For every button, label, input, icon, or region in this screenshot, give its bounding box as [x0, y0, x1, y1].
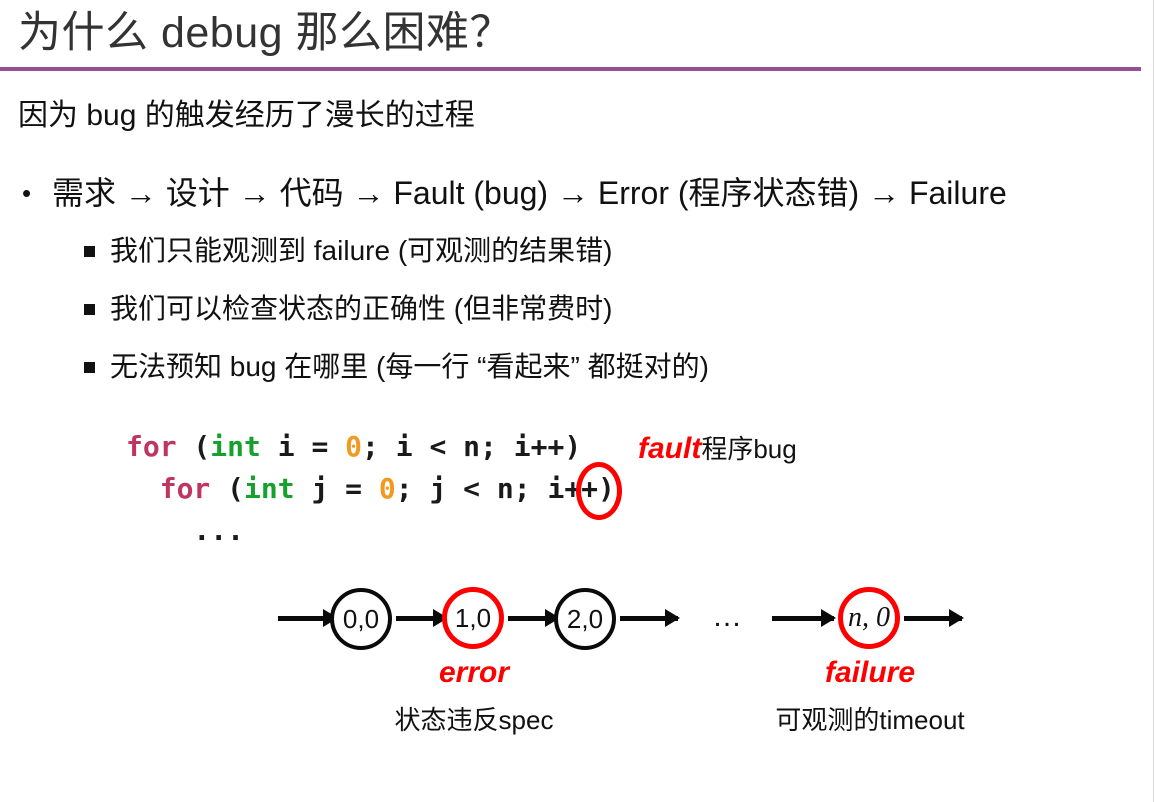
slide-canvas: 为什么 debug 那么困难？ 因为 bug 的触发经历了漫长的过程 •需求 →…: [0, 0, 1154, 802]
bullet-level2-label: 我们可以检查状态的正确性 (但非常费时): [110, 293, 612, 324]
diagram-arrow-n-out: [904, 616, 962, 621]
code-token-plain: (: [210, 472, 244, 505]
code-token-plain: i =: [261, 430, 345, 463]
code-token-plain: ...: [126, 514, 244, 547]
code-token-number: 0: [345, 430, 362, 463]
bullet-level2-label: 无法预知 bug 在哪里 (每一行 “看起来” 都挺对的): [110, 351, 709, 382]
bullet-level2-item: 无法预知 bug 在哪里 (每一行 “看起来” 都挺对的): [84, 348, 709, 386]
code-token-number: 0: [379, 472, 396, 505]
code-highlight-ellipse-icon: [576, 462, 622, 520]
code-token-type: int: [210, 430, 261, 463]
bullet-level2-item: 我们只能观测到 failure (可观测的结果错): [84, 232, 612, 270]
diagram-node-2: 2,0: [554, 588, 616, 650]
failure-label: failure: [794, 656, 946, 690]
diagram-ellipsis: …: [712, 600, 744, 634]
code-token-plain: (: [177, 430, 211, 463]
code-token-keyword: for: [126, 430, 177, 463]
diagram-arrow-2-out: [620, 616, 678, 621]
bullet-square-icon: [84, 290, 110, 328]
page-title: 为什么 debug 那么困难？: [18, 4, 513, 62]
fault-annotation: fault程序bug: [638, 430, 797, 468]
subtitle-text: 因为 bug 的触发经历了漫长的过程: [18, 96, 475, 136]
code-block: for (int i = 0; i < n; i++) for (int j =…: [126, 426, 615, 552]
code-token-plain: j =: [295, 472, 379, 505]
state-diagram: 0,0 1,0 2,0 … n, 0 error 状态违反spec failur…: [0, 560, 1154, 690]
bullet-level2-item: 我们可以检查状态的正确性 (但非常费时): [84, 290, 612, 328]
diagram-arrow-in-n: [772, 616, 834, 621]
diagram-arrow-1-2: [508, 616, 558, 621]
error-label: error: [398, 656, 550, 690]
diagram-node-1: 1,0: [442, 587, 504, 649]
failure-caption: 可观测的timeout: [762, 700, 978, 737]
bullet-level2-label: 我们只能观测到 failure (可观测的结果错): [110, 235, 612, 266]
code-token-plain: [126, 472, 160, 505]
fault-label: fault: [638, 432, 701, 465]
diagram-arrow-entry: [278, 616, 336, 621]
code-token-type: int: [244, 472, 295, 505]
diagram-node-n: n, 0: [838, 587, 900, 649]
bullet-level1-item: •需求 → 设计 → 代码 → Fault (bug) → Error (程序状…: [22, 172, 1007, 214]
bullet-square-icon: [84, 232, 110, 270]
bullet-level1-label: 需求 → 设计 → 代码 → Fault (bug) → Error (程序状态…: [52, 175, 1007, 211]
code-token-keyword: for: [160, 472, 211, 505]
bullet-dot-icon: •: [22, 172, 52, 214]
title-divider: [0, 67, 1141, 71]
error-caption: 状态违反spec: [368, 700, 580, 737]
diagram-arrow-0-1: [396, 616, 446, 621]
code-token-plain: ; i < n; i++): [362, 430, 581, 463]
diagram-node-0: 0,0: [330, 588, 392, 650]
bullet-square-icon: [84, 348, 110, 386]
fault-note-text: 程序bug: [701, 434, 796, 464]
